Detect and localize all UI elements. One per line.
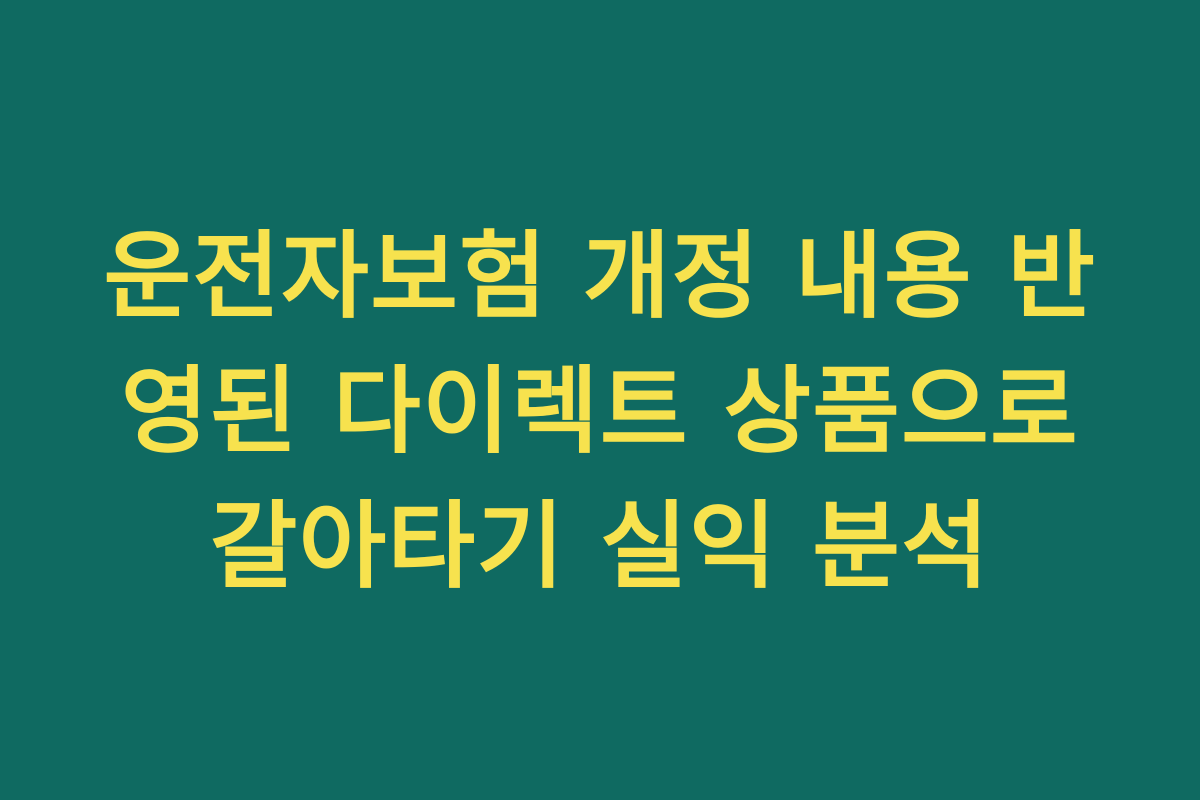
- headline-line-3: 갈아타기 실익 분석: [70, 480, 1130, 615]
- headline-line-2: 영된 다이렉트 상품으로: [70, 345, 1130, 480]
- thumbnail-card: 운전자보험 개정 내용 반 영된 다이렉트 상품으로 갈아타기 실익 분석: [0, 0, 1200, 800]
- headline-line-1: 운전자보험 개정 내용 반: [70, 210, 1130, 345]
- headline-block: 운전자보험 개정 내용 반 영된 다이렉트 상품으로 갈아타기 실익 분석: [70, 210, 1130, 615]
